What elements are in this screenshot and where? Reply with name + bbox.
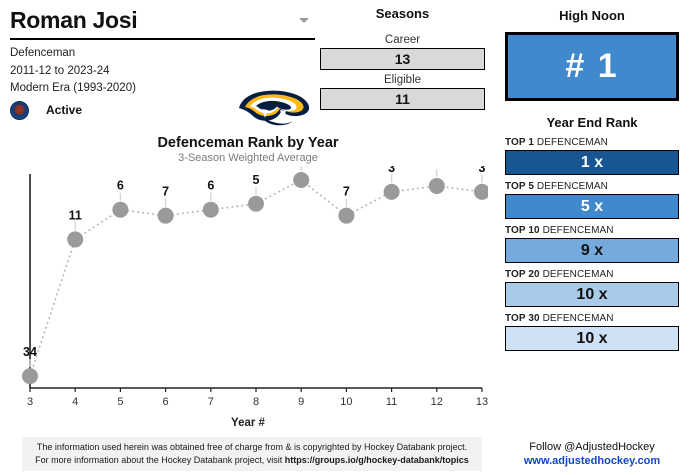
chart-point[interactable]: [429, 178, 445, 194]
chart-point[interactable]: [67, 231, 83, 247]
chart-subtitle: 3-Season Weighted Average: [8, 152, 488, 164]
chart-x-tick-label: 8: [253, 396, 259, 408]
disclaimer-line-2: For more information about the Hockey Da…: [26, 454, 478, 467]
chart-x-tick-label: 3: [27, 396, 33, 408]
high-noon-title: High Noon: [495, 8, 689, 23]
seasons-title: Seasons: [320, 6, 485, 21]
chart-xaxis-label: Year #: [8, 417, 488, 429]
rank-row: TOP 30 DEFENCEMAN10 x: [505, 313, 679, 351]
player-position: Defenceman: [10, 45, 315, 63]
player-meta: Defenceman 2011-12 to 2023-24 Modern Era…: [10, 40, 315, 120]
chart-x-tick-label: 13: [476, 396, 488, 408]
rank-tier: TOP 5: [505, 181, 534, 192]
chart-x-tick-label: 5: [117, 396, 123, 408]
chart-point[interactable]: [384, 184, 400, 200]
follow-footer: Follow @AdjustedHockey www.adjustedhocke…: [495, 440, 689, 468]
chart-point[interactable]: [248, 196, 264, 212]
chart-svg: 3431146576675819710311212313: [8, 166, 488, 416]
team-badge-icon: [10, 101, 29, 120]
year-end-rank-list: TOP 1 DEFENCEMAN1 xTOP 5 DEFENCEMAN5 xTO…: [495, 137, 689, 351]
player-header: Roman Josi Defenceman 2011-12 to 2023-24…: [10, 4, 315, 120]
rank-suffix: DEFENCEMAN: [540, 269, 614, 280]
rank-row: TOP 1 DEFENCEMAN1 x: [505, 137, 679, 175]
seasons-panel: Seasons Career 13 Eligible 11: [320, 6, 485, 113]
chart-point[interactable]: [474, 184, 488, 200]
rank-caption: TOP 30 DEFENCEMAN: [505, 313, 679, 324]
rank-suffix: DEFENCEMAN: [540, 313, 614, 324]
chart-x-tick-label: 7: [208, 396, 214, 408]
chart-point-label: 34: [23, 345, 37, 359]
website-link[interactable]: www.adjustedhockey.com: [495, 454, 689, 468]
player-status-label: Active: [46, 103, 82, 117]
career-value: 13: [320, 48, 485, 70]
chart-point[interactable]: [293, 172, 309, 188]
rank-row: TOP 20 DEFENCEMAN10 x: [505, 269, 679, 307]
chart-x-tick-label: 6: [163, 396, 169, 408]
disclaimer-link[interactable]: https://groups.io/g/hockey-databank/topi…: [285, 455, 469, 465]
rank-row: TOP 10 DEFENCEMAN9 x: [505, 225, 679, 263]
chart-point[interactable]: [203, 202, 219, 218]
follow-handle: Follow @AdjustedHockey: [495, 440, 689, 454]
chart-point[interactable]: [22, 368, 38, 384]
chart-point-label: 3: [388, 166, 395, 175]
rank-bar: 10 x: [505, 326, 679, 351]
rank-suffix: DEFENCEMAN: [534, 181, 608, 192]
rank-tier: TOP 10: [505, 225, 540, 236]
high-noon-value: # 1: [505, 32, 679, 101]
rank-bar: 9 x: [505, 238, 679, 263]
disclaimer-line-2-prefix: For more information about the Hockey Da…: [35, 455, 285, 465]
rank-suffix: DEFENCEMAN: [540, 225, 614, 236]
rank-tier: TOP 30: [505, 313, 540, 324]
chart-x-tick-label: 4: [72, 396, 78, 408]
rank-caption: TOP 1 DEFENCEMAN: [505, 137, 679, 148]
career-label: Career: [320, 33, 485, 48]
rank-tier: TOP 1: [505, 137, 534, 148]
rank-row: TOP 5 DEFENCEMAN5 x: [505, 181, 679, 219]
rank-suffix: DEFENCEMAN: [534, 137, 608, 148]
chart-x-tick-label: 11: [386, 396, 397, 408]
left-panel: Roman Josi Defenceman 2011-12 to 2023-24…: [0, 0, 495, 475]
rank-bar: 10 x: [505, 282, 679, 307]
disclaimer: The information used herein was obtained…: [22, 437, 482, 471]
rank-caption: TOP 20 DEFENCEMAN: [505, 269, 679, 280]
chart-point[interactable]: [158, 208, 174, 224]
player-name: Roman Josi: [10, 4, 315, 36]
rank-chart: Defenceman Rank by Year 3-Season Weighte…: [8, 133, 488, 433]
nashville-predators-logo: [230, 80, 315, 132]
rank-bar: 1 x: [505, 150, 679, 175]
rank-tier: TOP 20: [505, 269, 540, 280]
chart-point-label: 6: [207, 179, 214, 193]
eligible-value: 11: [320, 88, 485, 110]
chevron-down-icon[interactable]: [299, 18, 309, 23]
chart-point[interactable]: [338, 208, 354, 224]
chart-plot-area: 3431146576675819710311212313: [8, 166, 488, 416]
right-panel: High Noon # 1 Year End Rank TOP 1 DEFENC…: [495, 0, 689, 475]
chart-x-tick-label: 9: [298, 396, 304, 408]
year-end-rank-title: Year End Rank: [495, 115, 689, 130]
chart-x-tick-label: 10: [340, 396, 352, 408]
rank-caption: TOP 5 DEFENCEMAN: [505, 181, 679, 192]
player-selector[interactable]: Roman Josi: [10, 4, 315, 40]
chart-point[interactable]: [112, 202, 128, 218]
rank-bar: 5 x: [505, 194, 679, 219]
chart-point-label: 6: [117, 179, 124, 193]
chart-point-label: 7: [343, 185, 350, 199]
chart-point-label: 11: [69, 208, 82, 222]
chart-point-label: 7: [162, 185, 169, 199]
chart-point-label: 3: [479, 166, 486, 175]
player-seasons-range: 2011-12 to 2023-24: [10, 63, 315, 81]
chart-x-tick-label: 12: [431, 396, 443, 408]
rank-caption: TOP 10 DEFENCEMAN: [505, 225, 679, 236]
disclaimer-line-1: The information used herein was obtained…: [26, 441, 478, 454]
chart-point-label: 2: [433, 166, 440, 169]
chart-title: Defenceman Rank by Year: [8, 135, 488, 151]
eligible-label: Eligible: [320, 73, 485, 88]
chart-point-label: 5: [253, 173, 260, 187]
dashboard-root: Roman Josi Defenceman 2011-12 to 2023-24…: [0, 0, 689, 475]
